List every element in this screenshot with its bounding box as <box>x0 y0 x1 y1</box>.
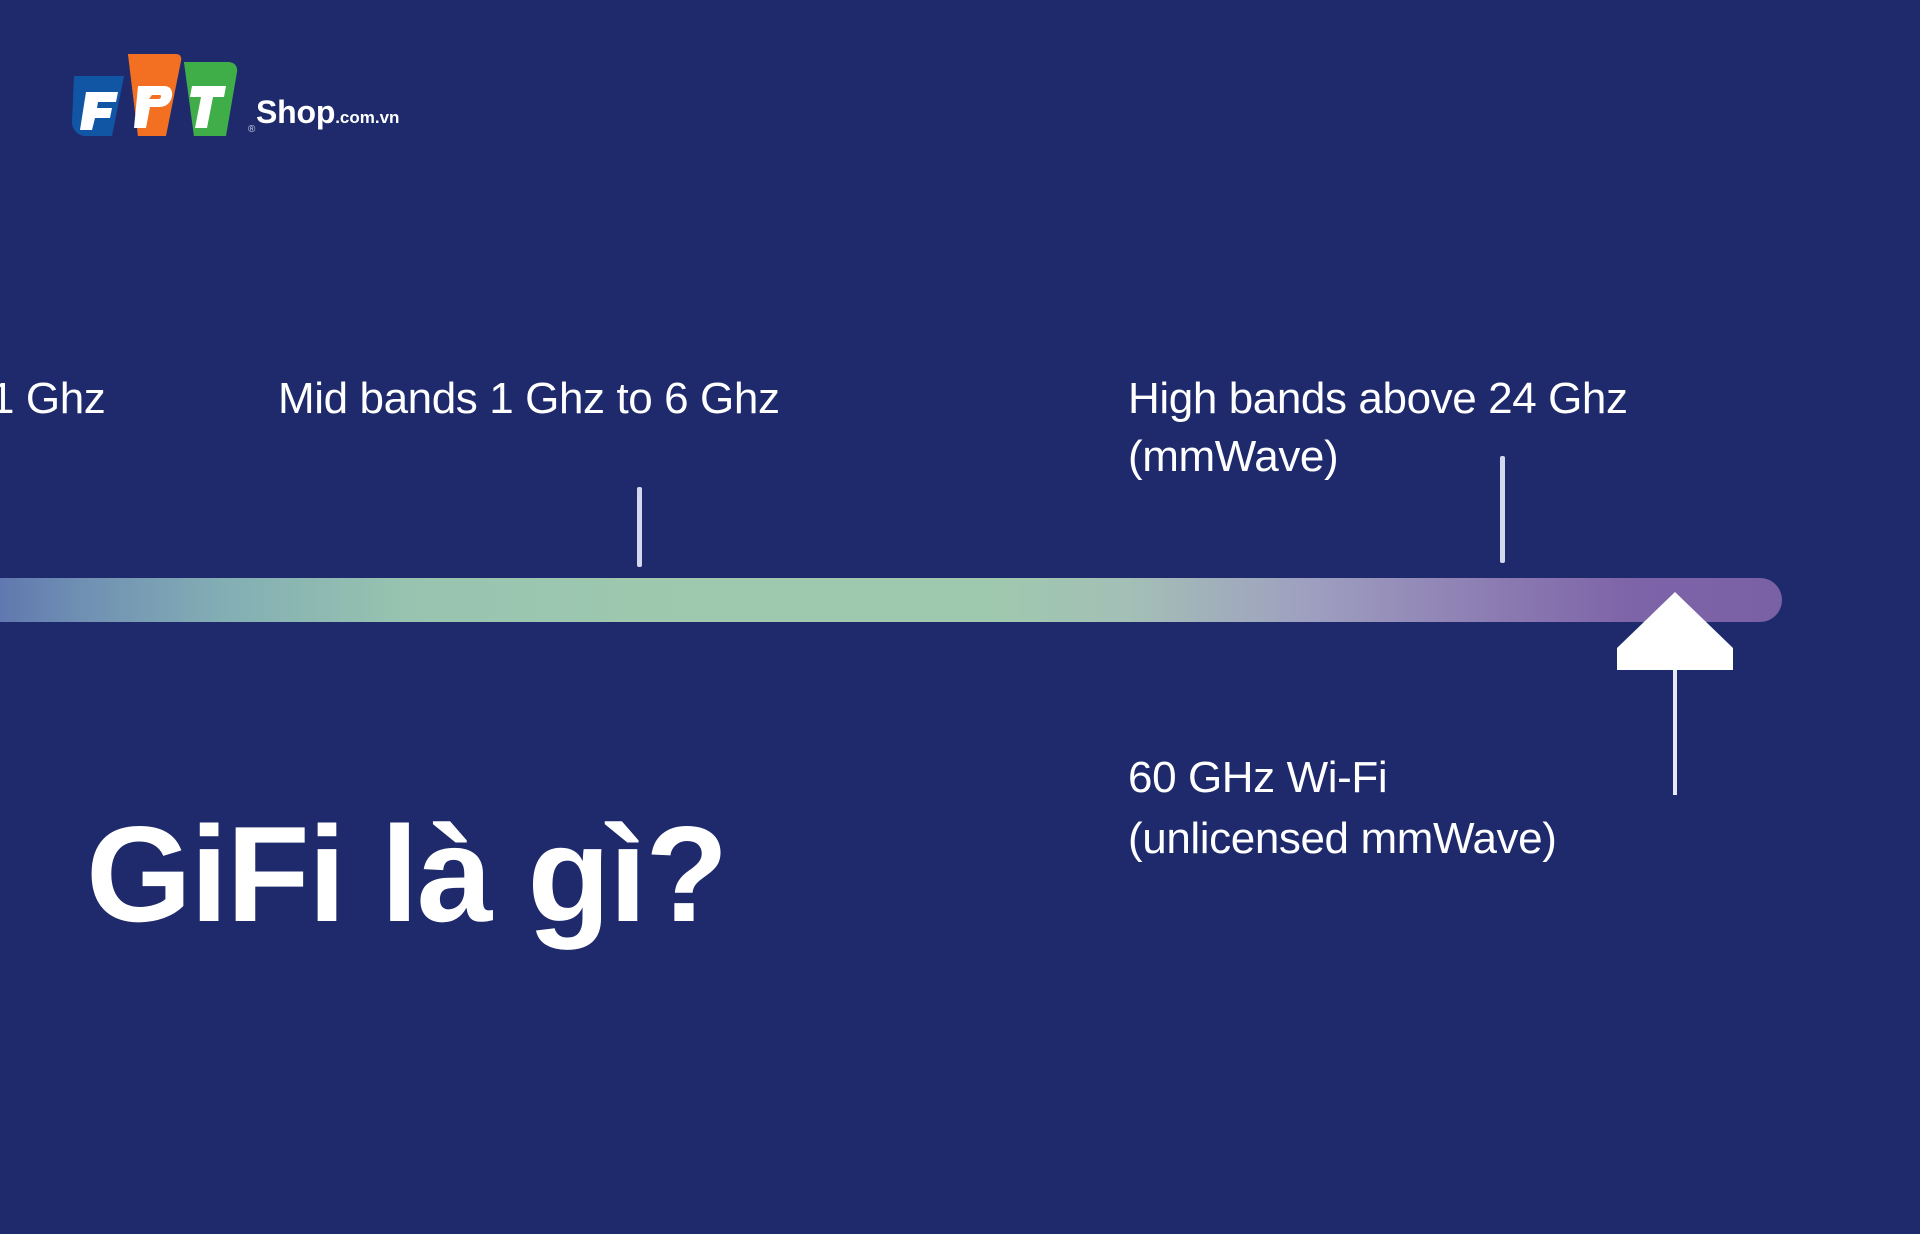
page-title: GiFi là gì? <box>86 806 727 942</box>
fpt-logo-mark <box>66 40 246 138</box>
spectrum-gradient-bar <box>0 578 1782 622</box>
wordmark-shop: Shop <box>256 94 335 130</box>
spectrum-label-mid-bands: Mid bands 1 Ghz to 6 Ghz <box>278 370 780 428</box>
callout-60ghz-wifi: 60 GHz Wi-Fi (unlicensed mmWave) <box>1128 748 1556 869</box>
pointer-stem <box>1673 660 1677 795</box>
spectrum-tick-high <box>1500 456 1505 563</box>
spectrum-tick-mid <box>637 487 642 567</box>
spectrum-label-high-bands: High bands above 24 Ghz (mmWave) <box>1128 370 1628 486</box>
up-arrow-pointer-icon <box>1617 592 1733 670</box>
wordmark-domain: .com.vn <box>335 108 399 127</box>
fpt-shop-wordmark: Shop.com.vn <box>256 94 399 131</box>
registered-trademark-icon: ® <box>248 124 255 135</box>
fpt-shop-logo[interactable]: Shop.com.vn ® <box>66 40 466 140</box>
spectrum-label-low-bands: 1 Ghz <box>0 370 105 428</box>
slide-canvas: Shop.com.vn ® 1 Ghz Mid bands 1 Ghz to 6… <box>0 0 1920 1234</box>
